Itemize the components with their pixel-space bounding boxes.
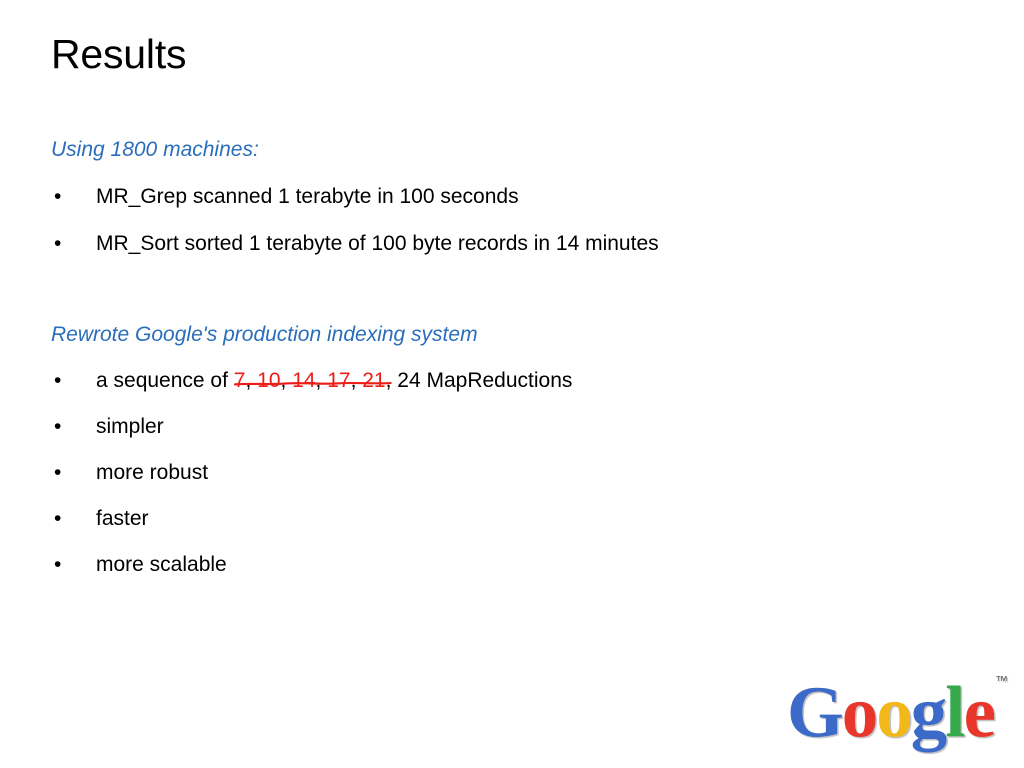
bullet-icon: •	[51, 550, 96, 580]
list-item-label: a sequence of 7, 10, 14, 17, 21, 24 MapR…	[96, 366, 572, 396]
struck-number: 14	[292, 369, 315, 392]
bullet-icon: •	[51, 458, 96, 488]
sequence-separator: ,	[351, 369, 363, 392]
list-item: • faster	[51, 504, 981, 534]
list-item: • more robust	[51, 458, 981, 488]
trademark-symbol: ™	[995, 673, 1008, 688]
sequence-separator: ,	[316, 369, 328, 392]
bullet-icon: •	[51, 504, 96, 534]
google-letter-3: o	[876, 671, 911, 752]
list-item: • more scalable	[51, 550, 981, 580]
list-item-label: more robust	[96, 458, 208, 488]
sequence-separator: ,	[386, 369, 392, 392]
section-heading-indexing: Rewrote Google's production indexing sys…	[51, 322, 478, 348]
list-item-label: MR_Grep scanned 1 terabyte in 100 second…	[96, 182, 519, 212]
list-item: • MR_Sort sorted 1 terabyte of 100 byte …	[51, 229, 981, 259]
google-letter-1: G	[787, 671, 842, 752]
struck-number: 21	[362, 369, 385, 392]
list-item: • simpler	[51, 412, 981, 442]
section-heading-machines: Using 1800 machines:	[51, 137, 259, 163]
list-item-label: MR_Sort sorted 1 terabyte of 100 byte re…	[96, 229, 659, 259]
list-item-label: more scalable	[96, 550, 227, 580]
google-letter-2: o	[842, 671, 877, 752]
sequence-separator: ,	[245, 369, 257, 392]
sequence-prefix: a sequence of	[96, 369, 234, 392]
slide-body: Using 1800 machines: • MR_Grep scanned 1…	[0, 0, 1024, 768]
sequence-separator: ,	[281, 369, 293, 392]
struck-number-group: 7, 10, 14, 17, 21,	[234, 366, 392, 396]
google-wordmark: Google™	[787, 668, 1007, 751]
slide-canvas: Results Using 1800 machines: • MR_Grep s…	[0, 0, 1024, 768]
sequence-suffix: 24 MapReductions	[391, 369, 572, 392]
list-item-label: faster	[96, 504, 149, 534]
bullet-icon: •	[51, 412, 96, 442]
list-item: • MR_Grep scanned 1 terabyte in 100 seco…	[51, 182, 981, 212]
google-logo: Google™	[787, 668, 992, 746]
list-item-label: simpler	[96, 412, 164, 442]
bullet-icon: •	[51, 229, 96, 259]
bullet-icon: •	[51, 182, 96, 212]
google-letter-4: g	[911, 671, 946, 752]
struck-number: 7	[234, 369, 246, 392]
google-letter-5: l	[945, 671, 963, 752]
struck-number: 10	[257, 369, 280, 392]
google-letter-6: e	[964, 671, 994, 752]
bullet-icon: •	[51, 366, 96, 396]
list-item-sequence: • a sequence of 7, 10, 14, 17, 21, 24 Ma…	[51, 366, 981, 396]
struck-number: 17	[327, 369, 350, 392]
